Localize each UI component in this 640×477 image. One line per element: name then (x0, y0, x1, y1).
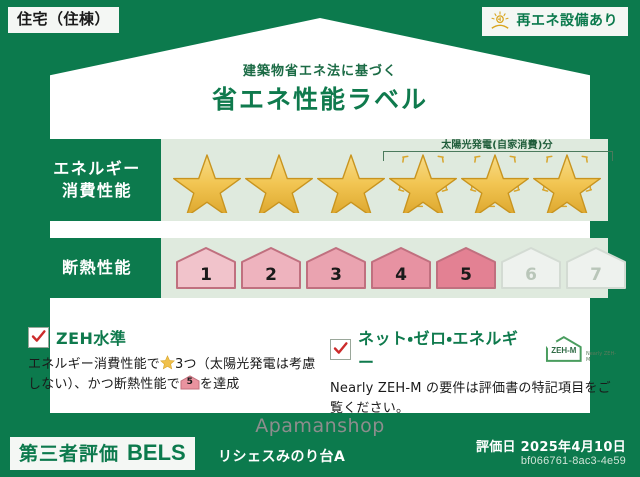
svg-text:ZEH-M: ZEH-M (552, 346, 577, 355)
star-icon (160, 355, 175, 370)
insulation-house-number: 3 (305, 265, 367, 285)
zeh-m-logo-sub: Nearly ZEH-M (586, 352, 620, 363)
zeh-standard-block: ZEH水準 エネルギー消費性能で3つ（太陽光発電は考慮しない）、かつ断熱性能で5… (28, 325, 318, 395)
insulation-key-label: 断熱性能 (62, 257, 132, 279)
zeh-standard-header: ZEH水準 (28, 325, 318, 349)
energy-performance-label: 住宅（住棟） 再エネ設備あり 建築物省エネ法に基づく 省エネ性能ラベル (0, 0, 640, 477)
star-solar (389, 147, 457, 213)
building-name: リシェスみのり台A (218, 446, 345, 466)
sun-solar-icon (489, 11, 511, 31)
net-zero-energy-header: ネット・ゼロ・エネルギー ZEH-M Nearly ZEH-M (330, 325, 620, 373)
insulation-house-number: 5 (435, 265, 497, 285)
insulation-house-number: 1 (175, 265, 237, 285)
zeh-body-part1: エネルギー消費性能で (28, 357, 160, 372)
insulation-house-number: 2 (240, 265, 302, 285)
energy-performance-row: エネルギー 消費性能 太陽光発電(自家消費)分 (33, 139, 608, 221)
renewable-badge-label: 再エネ設備あり (517, 14, 619, 28)
evaluation-date: 評価日 2025年4月10日 (476, 436, 626, 455)
energy-key-line1: エネルギー (53, 158, 141, 180)
house-level-number: 5 (180, 376, 200, 390)
insulation-house-number: 6 (500, 265, 562, 285)
energy-key-line2: 消費性能 (62, 180, 132, 202)
insulation-house-active: 5 (435, 246, 497, 290)
bels-en-label: BELS (127, 442, 186, 464)
energy-row-key: エネルギー 消費性能 (33, 139, 161, 221)
insulation-house-active: 4 (370, 246, 432, 290)
building-type-tab: 住宅（住棟） (8, 7, 119, 33)
star-rating (161, 147, 601, 213)
star-filled (173, 147, 241, 213)
insulation-row-value: 1 2 3 4 5 6 7 (161, 238, 627, 298)
zeh-m-logo-icon: ZEH-M Nearly ZEH-M (540, 335, 620, 363)
insulation-house-inactive: 7 (565, 246, 627, 290)
insulation-house-number: 7 (565, 265, 627, 285)
star-solar (461, 147, 529, 213)
zeh-standard-title: ZEH水準 (56, 325, 126, 349)
zeh-standard-checkbox (28, 327, 49, 348)
footer-bar: 第三者評価 BELS リシェスみのり台A 評価日 2025年4月10日 bf06… (0, 429, 640, 477)
star-solar (533, 147, 601, 213)
insulation-house-number: 4 (370, 265, 432, 285)
insulation-scale: 1 2 3 4 5 6 7 (161, 246, 627, 290)
net-zero-energy-title: ネット・ゼロ・エネルギー (358, 325, 533, 373)
insulation-house-active: 3 (305, 246, 367, 290)
energy-row-value: 太陽光発電(自家消費)分 (161, 139, 608, 221)
renewable-equipment-badge: 再エネ設備あり (482, 7, 629, 36)
insulation-house-active: 2 (240, 246, 302, 290)
insulation-row-key: 断熱性能 (33, 238, 161, 298)
star-filled (245, 147, 313, 213)
star-filled (317, 147, 385, 213)
house-level-icon: 5 (180, 375, 200, 390)
net-zero-energy-block: ネット・ゼロ・エネルギー ZEH-M Nearly ZEH-M Nearly Z… (330, 325, 620, 419)
label-subtitle: 建築物省エネ法に基づく (0, 60, 640, 79)
evaluation-id: bf066761-8ac3-4e59 (521, 455, 626, 467)
net-zero-energy-checkbox (330, 339, 351, 360)
insulation-house-inactive: 6 (500, 246, 562, 290)
bels-badge: 第三者評価 BELS (10, 437, 195, 470)
label-title: 省エネ性能ラベル (0, 80, 640, 116)
insulation-performance-row: 断熱性能 1 2 3 4 5 6 7 (33, 238, 608, 298)
zeh-standard-body: エネルギー消費性能で3つ（太陽光発電は考慮しない）、かつ断熱性能で5を達成 (28, 355, 318, 395)
zeh-body-part3: を達成 (200, 377, 240, 392)
bels-jp-label: 第三者評価 (19, 445, 119, 464)
insulation-house-active: 1 (175, 246, 237, 290)
net-zero-energy-body: Nearly ZEH-M の要件は評価書の特記項目をご覧ください。 (330, 379, 620, 419)
